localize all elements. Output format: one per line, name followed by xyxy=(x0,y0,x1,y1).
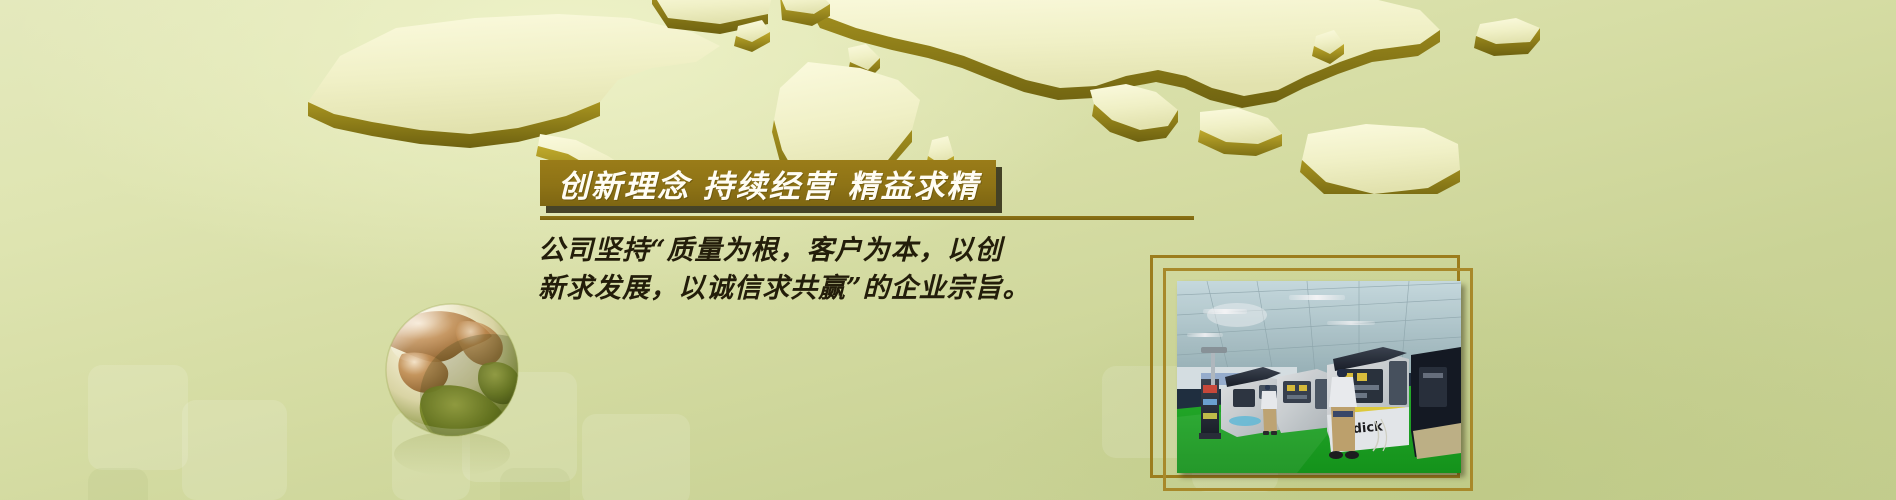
headline-band: 创新理念 持续经营 精益求精 xyxy=(540,160,996,206)
headline-rule xyxy=(540,216,1194,220)
subtitle-line-2: 新求发展，以诚信求共赢”的企业宗旨。 xyxy=(538,270,1178,308)
globe-3d-icon xyxy=(372,292,552,492)
factory-floor-photo: dick xyxy=(1177,281,1461,473)
headline-slogan: 创新理念 持续经营 精益求精 xyxy=(558,161,980,206)
subtitle-line-1: 公司坚持“质量为根，客户为本，以创 xyxy=(538,232,1178,270)
subtitle-block: 公司坚持“质量为根，客户为本，以创 新求发展，以诚信求共赢”的企业宗旨。 xyxy=(538,232,1178,308)
company-banner: 创新理念 持续经营 精益求精 公司坚持“质量为根，客户为本，以创 新求发展，以诚… xyxy=(0,0,1896,500)
